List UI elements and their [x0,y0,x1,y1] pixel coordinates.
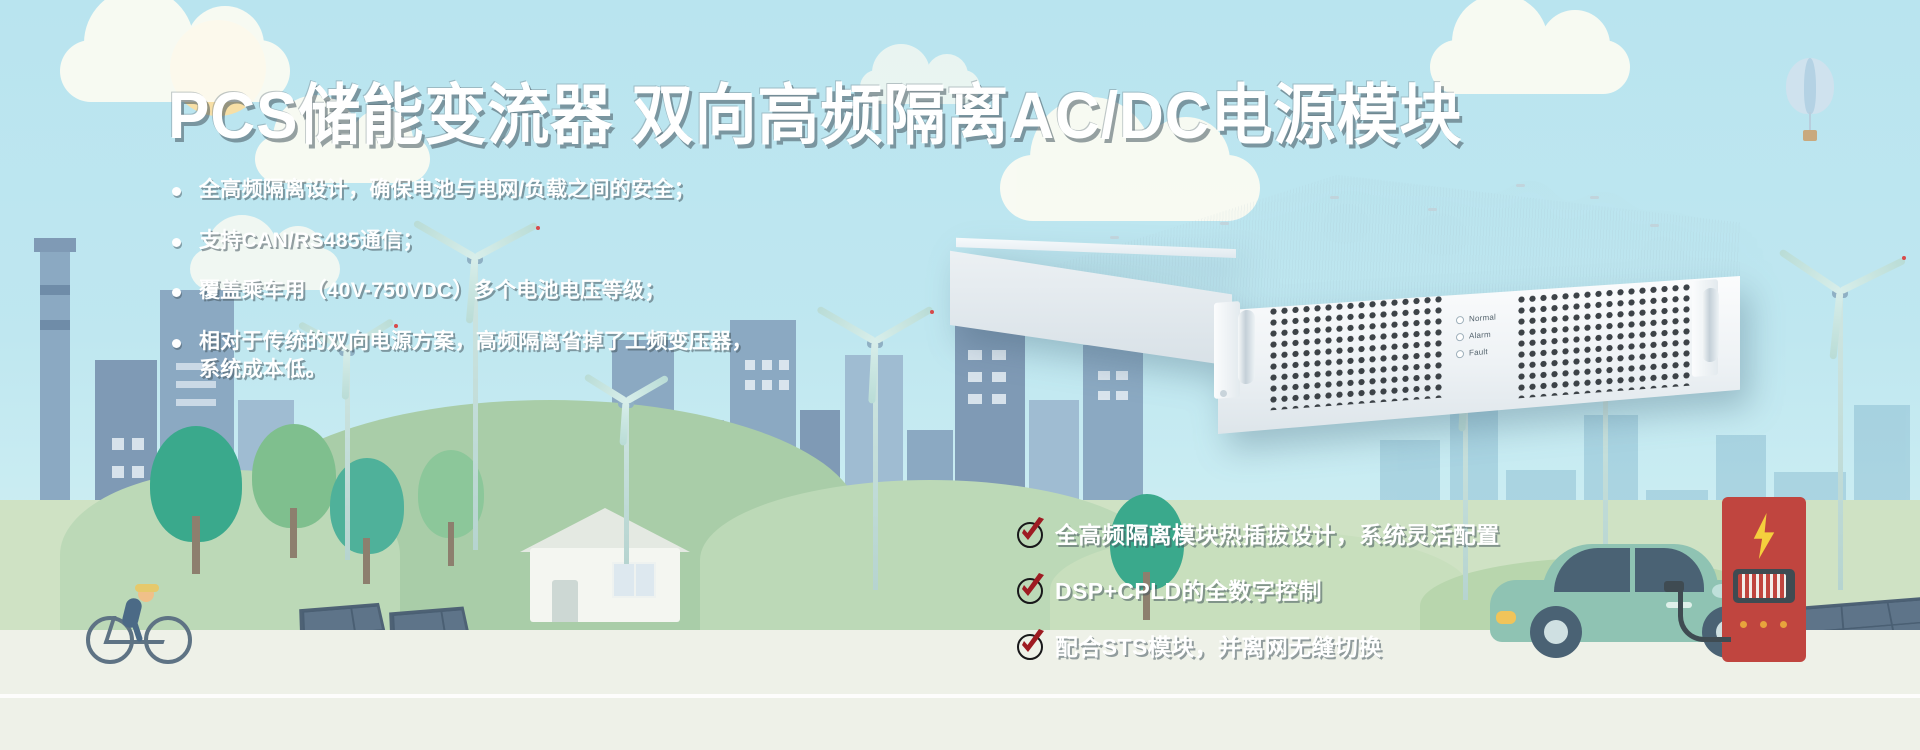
bullet-dot-icon [172,187,181,196]
check-bullet-text: DSP+CPLD的全数字控制 [1055,572,1322,606]
status-led-group: Normal Alarm Fault [1456,309,1496,363]
feature-bullet-text: 支持CAN/RS485通信； [199,227,424,255]
product-banner: Normal Alarm Fault PCS储能变流器 双向高频隔离AC/DC电… [0,0,1920,750]
check-circle-icon [1015,519,1043,547]
led-indicator-alarm [1456,332,1464,341]
check-bullet-item: 配合STS模块，并离网无缝切换 [1015,628,1500,662]
bullet-dot-icon [172,238,181,247]
feature-bullet-item: 相对于传统的双向电源方案，高频隔离省掉了工频变压器，系统成本低。 [172,328,872,383]
bullet-dot-icon [172,339,181,348]
feature-bullet-list: 全高频隔离设计，确保电池与电网/负载之间的安全； 支持CAN/RS485通信； … [172,176,872,407]
check-bullet-list: 全高频隔离模块热插拔设计，系统灵活配置 DSP+CPLD的全数字控制 配合STS… [1015,516,1500,684]
check-bullet-item: 全高频隔离模块热插拔设计，系统灵活配置 [1015,516,1500,550]
banner-title: PCS储能变流器 双向高频隔离AC/DC电源模块 [168,62,1462,158]
led-label-alarm: Alarm [1469,330,1491,341]
cyclist-illustration [86,578,196,664]
led-label-fault: Fault [1469,347,1488,357]
wind-turbine [586,384,666,564]
rack-handle [1702,287,1719,362]
ventilation-grille [1516,282,1692,399]
hot-air-balloon-icon [1778,58,1842,176]
battery-icon [1733,569,1795,603]
pcs-product-image: Normal Alarm Fault [950,160,1740,440]
feature-bullet-text: 全高频隔离设计，确保电池与电网/负载之间的安全； [199,176,695,204]
ev-charging-station [1722,497,1806,662]
feature-bullet-item: 全高频隔离设计，确保电池与电网/负载之间的安全； [172,176,872,204]
feature-bullet-text: 覆盖乘车用（40V-750VDC）多个电池电压等级； [199,277,665,305]
road-marking [0,694,1920,698]
check-bullet-text: 全高频隔离模块热插拔设计，系统灵活配置 [1055,516,1500,550]
led-row-fault: Fault [1456,343,1496,363]
ventilation-grille [1268,294,1444,411]
led-indicator-fault [1456,349,1464,358]
lightning-bolt-icon [1748,513,1780,559]
feature-bullet-item: 支持CAN/RS485通信； [172,227,872,255]
feature-bullet-item: 覆盖乘车用（40V-750VDC）多个电池电压等级； [172,277,872,305]
check-circle-icon [1015,575,1043,603]
led-indicator-normal [1456,315,1464,324]
check-bullet-text: 配合STS模块，并离网无缝切换 [1055,628,1382,662]
check-circle-icon [1015,631,1043,659]
feature-bullet-text: 相对于传统的双向电源方案，高频隔离省掉了工频变压器，系统成本低。 [199,328,759,383]
check-bullet-item: DSP+CPLD的全数字控制 [1015,572,1500,606]
led-label-normal: Normal [1469,313,1496,324]
rack-handle [1238,309,1255,384]
bullet-dot-icon [172,288,181,297]
